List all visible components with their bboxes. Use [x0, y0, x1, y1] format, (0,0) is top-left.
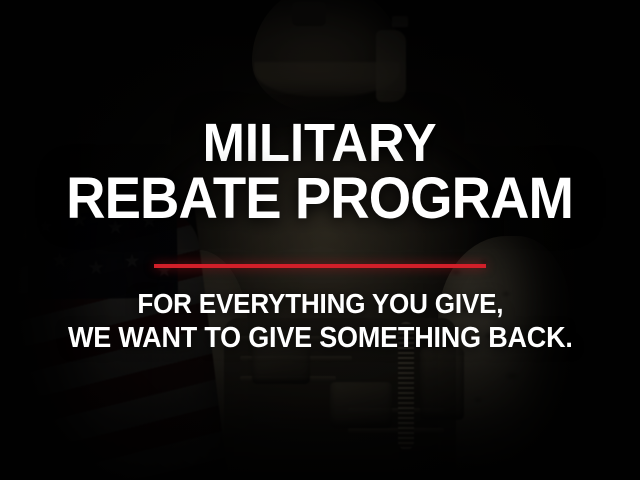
subheadline: FOR EVERYTHING YOU GIVE, WE WANT TO GIVE…	[68, 287, 573, 355]
headline: MILITARY REBATE PROGRAM	[67, 118, 574, 228]
subheadline-line-1: FOR EVERYTHING YOU GIVE,	[68, 287, 573, 321]
headline-line-2: REBATE PROGRAM	[67, 171, 574, 227]
headline-line-1: MILITARY	[67, 118, 574, 170]
military-rebate-banner: ★ ★ ★ ★ ★ ★ ★ ★ MILITARY REBATE PROGRAM …	[0, 0, 640, 480]
banner-content: MILITARY REBATE PROGRAM FOR EVERYTHING Y…	[0, 0, 640, 480]
subheadline-line-2: WE WANT TO GIVE SOMETHING BACK.	[68, 321, 573, 356]
red-accent-rule	[154, 264, 486, 268]
